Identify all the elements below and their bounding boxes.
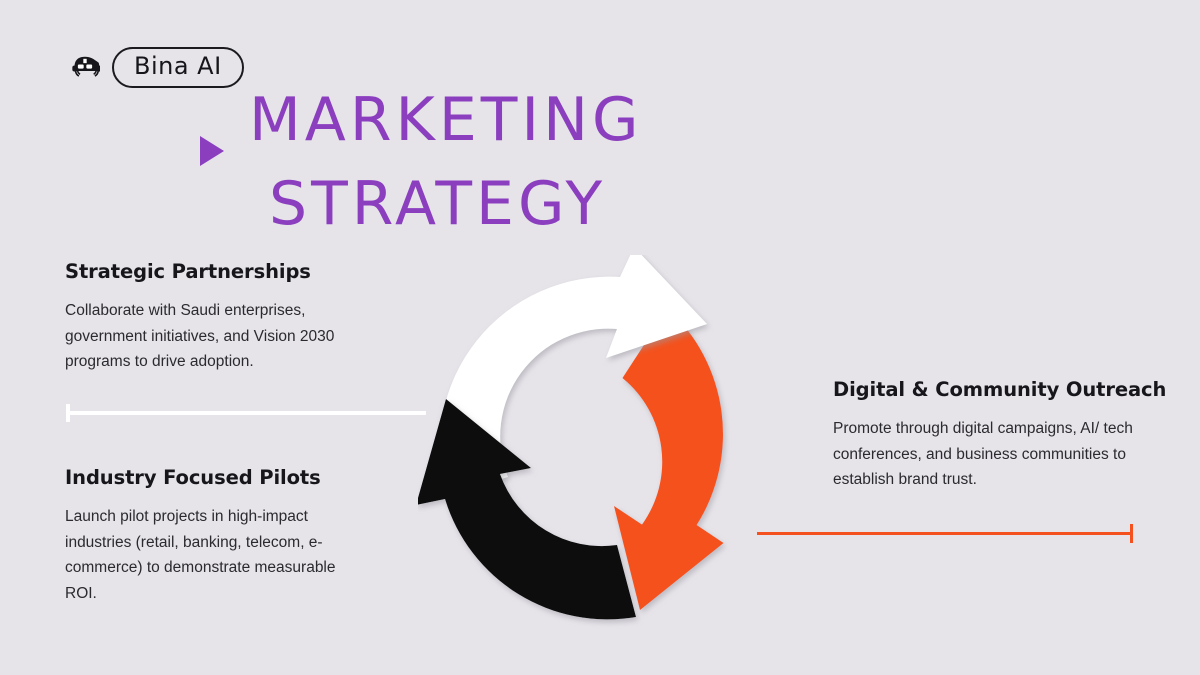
connector-cap-left bbox=[66, 404, 70, 422]
brand-pill: Bina AI bbox=[112, 47, 244, 88]
connector-cap-right bbox=[1130, 524, 1133, 543]
card-body: Launch pilot projects in high-impact ind… bbox=[65, 504, 365, 606]
page-title-line-1: MARKETING bbox=[245, 78, 885, 162]
orange-arrow-segment bbox=[614, 309, 724, 611]
connector-line-left bbox=[66, 411, 426, 415]
black-arrow-segment bbox=[418, 399, 636, 619]
card-body: Promote through digital campaigns, AI/ t… bbox=[833, 416, 1178, 493]
card-digital-community-outreach: Digital & Community Outreach Promote thr… bbox=[833, 378, 1178, 493]
cycle-diagram bbox=[418, 255, 798, 635]
slide-canvas: Bina AI MARKETING STRATEGY Strategic Par… bbox=[0, 0, 1200, 675]
card-body: Collaborate with Saudi enterprises, gove… bbox=[65, 298, 365, 375]
page-title-line-2: STRATEGY bbox=[245, 162, 885, 246]
card-heading: Industry Focused Pilots bbox=[65, 466, 365, 489]
cycle-diagram-svg bbox=[418, 255, 798, 635]
connector-line-right bbox=[757, 532, 1133, 535]
card-strategic-partnerships: Strategic Partnerships Collaborate with … bbox=[65, 260, 365, 375]
brand-logo[interactable]: Bina AI bbox=[70, 47, 244, 88]
page-title: MARKETING STRATEGY bbox=[245, 78, 885, 246]
play-triangle-icon bbox=[200, 136, 224, 166]
card-industry-focused-pilots: Industry Focused Pilots Launch pilot pro… bbox=[65, 466, 365, 606]
card-heading: Strategic Partnerships bbox=[65, 260, 365, 283]
vr-headset-icon bbox=[70, 53, 100, 83]
card-heading: Digital & Community Outreach bbox=[833, 378, 1178, 401]
brand-name: Bina AI bbox=[134, 52, 222, 80]
